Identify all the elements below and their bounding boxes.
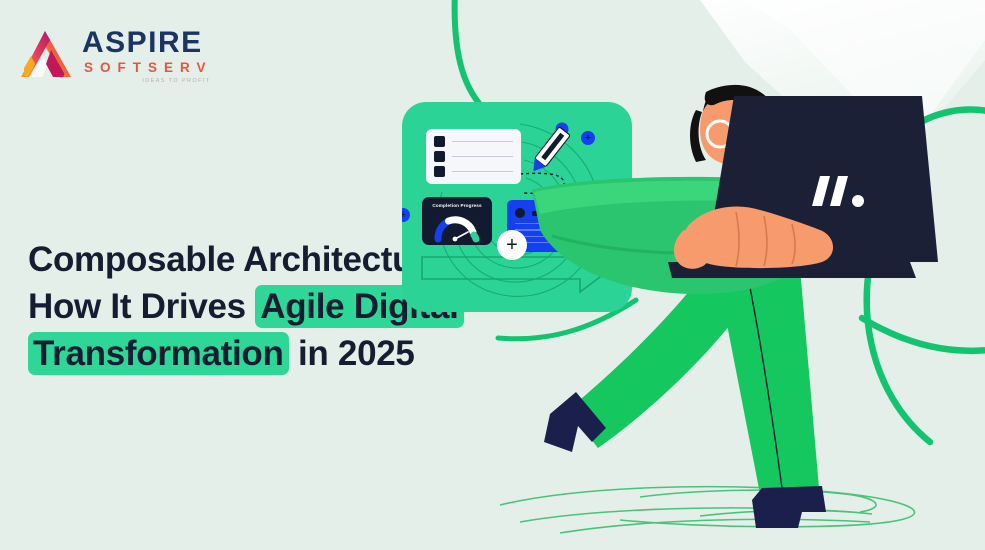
- aspire-triangle-logo-icon: [18, 28, 74, 82]
- checklist-line: [452, 141, 513, 142]
- checkbox-icon[interactable]: [434, 166, 445, 177]
- banner-canvas: ASPIRE SOFTSERV IDEAS TO PROFIT Composab…: [0, 0, 985, 550]
- completion-progress-gauge: Completion Progress: [422, 197, 492, 245]
- gauge-title: Completion Progress: [422, 203, 492, 208]
- logo-name: ASPIRE: [82, 28, 213, 58]
- checklist-widget[interactable]: [426, 129, 521, 184]
- logo-tagline: IDEAS TO PROFIT: [142, 79, 212, 85]
- front-shoe: [752, 486, 826, 528]
- headline-part-2: in 2025: [289, 334, 415, 373]
- checklist-line: [452, 171, 513, 172]
- checklist-row[interactable]: [434, 136, 513, 147]
- checklist-row[interactable]: [434, 151, 513, 162]
- checkbox-icon[interactable]: [434, 136, 445, 147]
- checkbox-icon[interactable]: [434, 151, 445, 162]
- front-leg: [716, 268, 820, 504]
- person-with-laptop-illustration: [520, 80, 950, 550]
- checklist-line: [452, 156, 513, 157]
- gauge-dial-icon: [433, 213, 481, 243]
- brand-logo[interactable]: ASPIRE SOFTSERV IDEAS TO PROFIT: [18, 26, 213, 84]
- green-curve-top: [455, 0, 487, 112]
- checklist-row[interactable]: [434, 166, 513, 177]
- logo-subname: SOFTSERV: [82, 61, 213, 75]
